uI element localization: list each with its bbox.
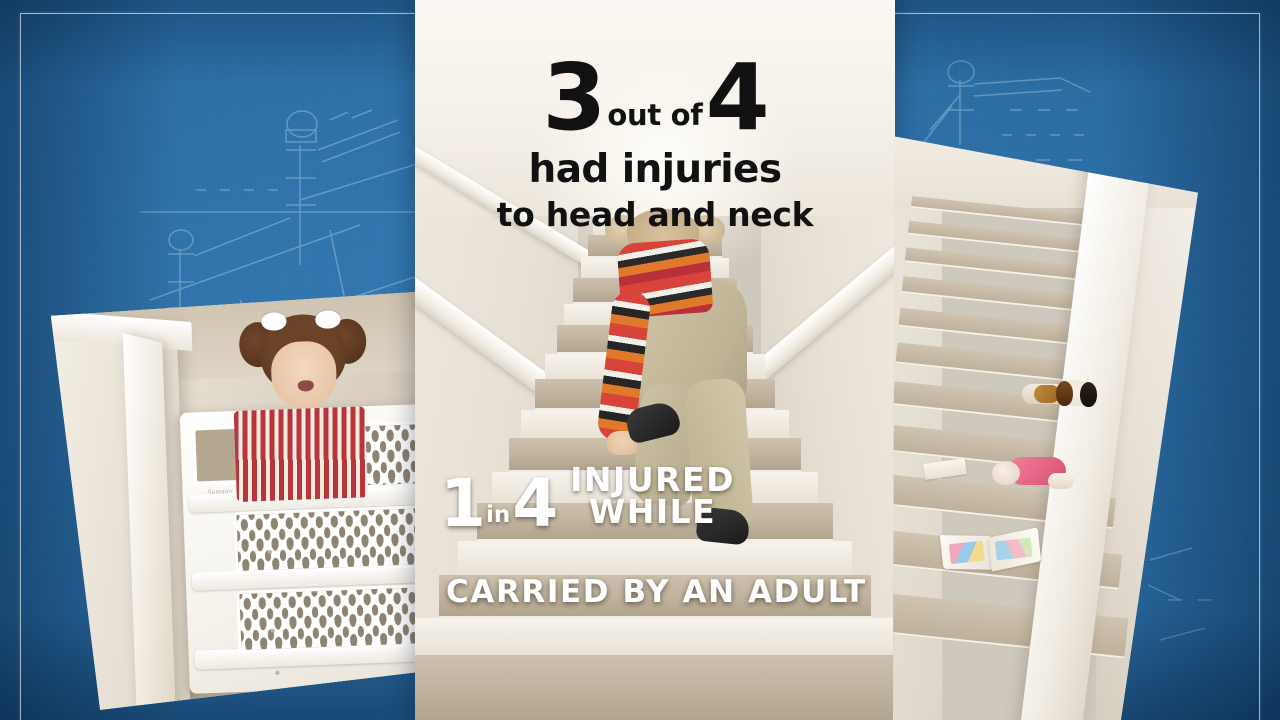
stat-words-line-2: WHILE (589, 492, 716, 531)
headline-connector: out of (604, 98, 705, 132)
stat-words: INJURED WHILE (570, 464, 735, 531)
headline-line-3: to head and neck (415, 195, 895, 234)
baby-gate-photo: Summer (37, 289, 438, 715)
pink-bunny-toy (992, 455, 1076, 489)
stair-tread (415, 655, 895, 720)
stat-first-number: 1 (440, 477, 484, 531)
statistic-ratio-row: 1 in 4 INJURED WHILE (440, 464, 880, 531)
headline-second-number: 4 (706, 44, 768, 151)
headline-line-2: had injuries (415, 147, 895, 192)
statistic-line-3: CARRIED BY AN ADULT (446, 574, 867, 610)
stat-second-number: 4 (512, 477, 556, 531)
gate-mesh-middle (233, 504, 437, 574)
gate-mesh-bottom (236, 582, 437, 652)
statistic-block: 1 in 4 INJURED WHILE (440, 464, 880, 531)
headline-first-number: 3 (542, 44, 604, 151)
toddler-behind-gate (253, 312, 353, 423)
stat-connector: in (484, 504, 512, 531)
toddler-shirt (234, 407, 368, 502)
stuffed-dog-toy (1022, 380, 1096, 408)
headline: 3out of4 had injuries to head and neck (415, 56, 895, 234)
psa-slide: Summer (0, 0, 1280, 720)
headline-ratio-row: 3out of4 (415, 56, 895, 141)
